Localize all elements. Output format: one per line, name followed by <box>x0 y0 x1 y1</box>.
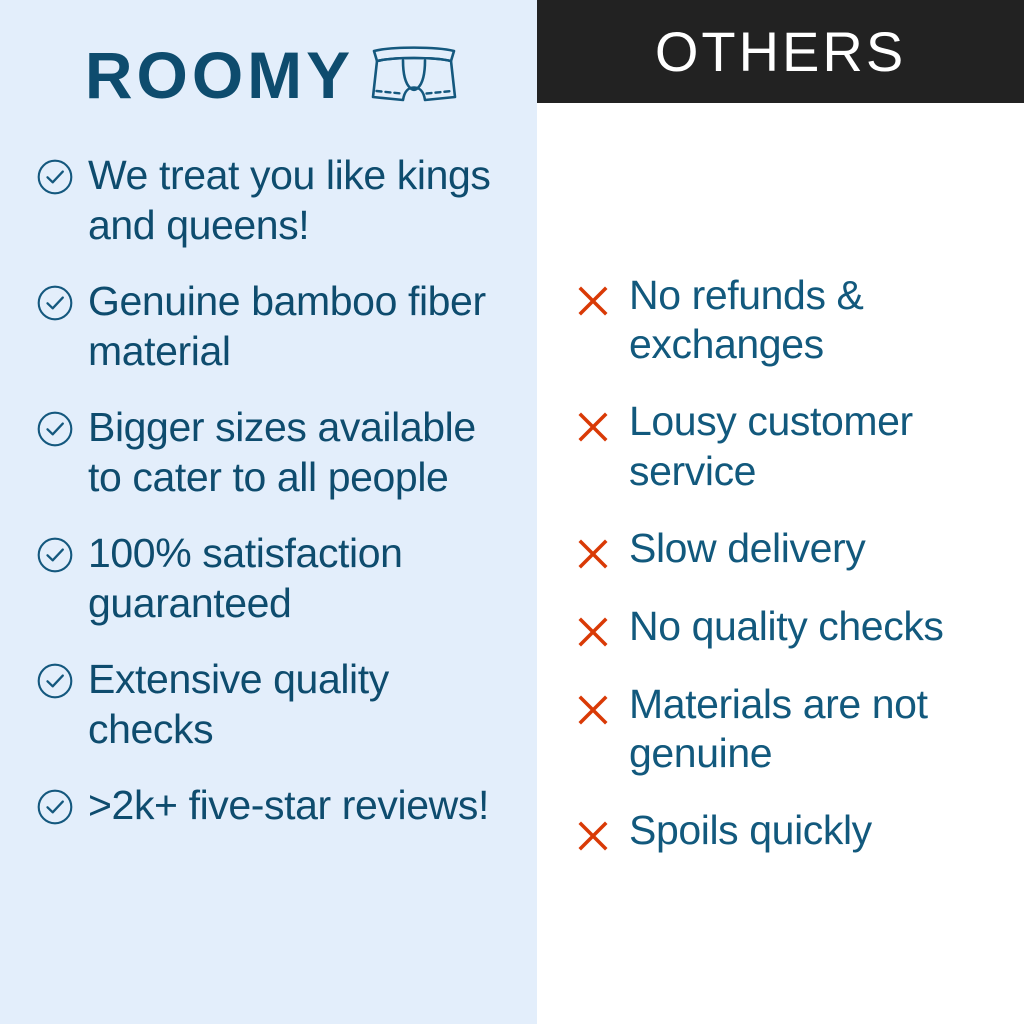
list-item: No refunds & exchanges <box>573 271 1012 369</box>
drawback-label: No quality checks <box>629 602 944 651</box>
others-title: OTHERS <box>655 24 906 80</box>
brand-wordmark: ROOMY <box>85 42 354 108</box>
drawback-label: No refunds & exchanges <box>629 271 1012 369</box>
brand-header: ROOMY <box>0 0 537 150</box>
others-column: OTHERS No refunds & exchanges <box>537 0 1024 1024</box>
list-item: No quality checks <box>573 602 1012 652</box>
list-item: Genuine bamboo fiber material <box>36 276 515 376</box>
brand-column: ROOMY <box>0 0 537 1024</box>
cross-x-icon <box>573 407 613 447</box>
circled-check-icon <box>36 662 74 700</box>
circled-check-icon <box>36 788 74 826</box>
benefit-label: Bigger sizes available to cater to all p… <box>88 402 515 502</box>
circled-check-icon <box>36 536 74 574</box>
drawbacks-list: No refunds & exchanges Lousy customer se… <box>537 271 1024 856</box>
others-header-banner: OTHERS <box>537 0 1024 103</box>
list-item: Bigger sizes available to cater to all p… <box>36 402 515 502</box>
benefit-label: 100% satisfaction guaranteed <box>88 528 515 628</box>
benefit-label: Genuine bamboo fiber material <box>88 276 515 376</box>
benefit-label: We treat you like kings and queens! <box>88 150 515 250</box>
cross-x-icon <box>573 281 613 321</box>
list-item: Slow delivery <box>573 524 1012 574</box>
list-item: We treat you like kings and queens! <box>36 150 515 250</box>
list-item: 100% satisfaction guaranteed <box>36 528 515 628</box>
benefit-label: >2k+ five-star reviews! <box>88 780 489 830</box>
cross-x-icon <box>573 534 613 574</box>
benefits-list: We treat you like kings and queens! Genu… <box>0 150 537 830</box>
drawback-label: Spoils quickly <box>629 806 872 855</box>
boxer-briefs-icon <box>368 42 460 108</box>
circled-check-icon <box>36 158 74 196</box>
circled-check-icon <box>36 284 74 322</box>
list-item: Extensive quality checks <box>36 654 515 754</box>
cross-x-icon <box>573 690 613 730</box>
drawback-label: Slow delivery <box>629 524 865 573</box>
circled-check-icon <box>36 410 74 448</box>
list-item: >2k+ five-star reviews! <box>36 780 515 830</box>
list-item: Materials are not genuine <box>573 680 1012 778</box>
comparison-infographic: ROOMY <box>0 0 1024 1024</box>
cross-x-icon <box>573 816 613 856</box>
brand-logo-lockup: ROOMY <box>85 42 460 108</box>
list-item: Spoils quickly <box>573 806 1012 856</box>
cross-x-icon <box>573 612 613 652</box>
drawback-label: Materials are not genuine <box>629 680 1012 778</box>
drawbacks-list-wrapper: No refunds & exchanges Lousy customer se… <box>537 103 1024 1024</box>
drawback-label: Lousy customer service <box>629 397 1012 495</box>
list-item: Lousy customer service <box>573 397 1012 495</box>
benefit-label: Extensive quality checks <box>88 654 515 754</box>
